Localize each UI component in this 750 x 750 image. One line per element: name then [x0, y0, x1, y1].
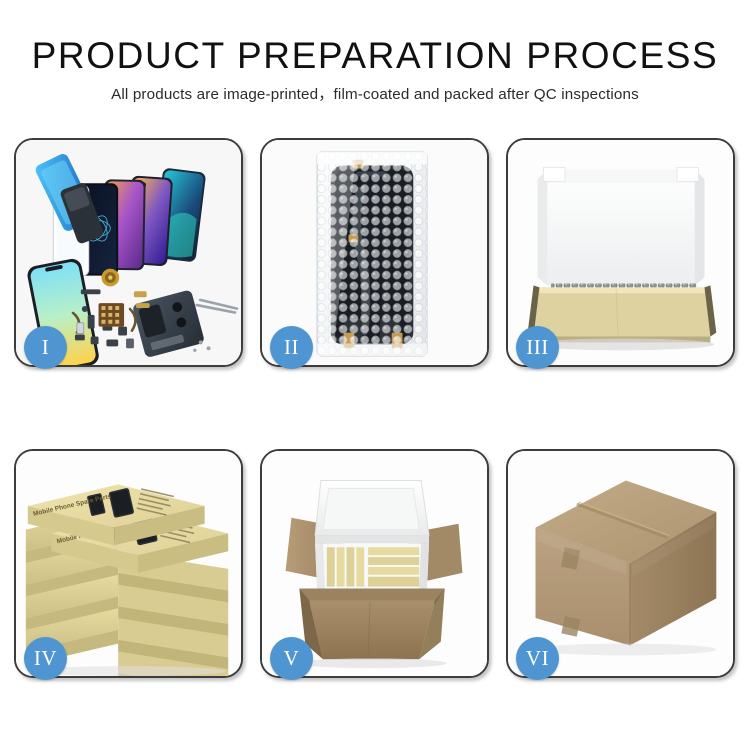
process-step-3: III	[506, 138, 735, 367]
step-badge-2: II	[270, 326, 313, 369]
step-badge-1: I	[24, 326, 67, 369]
page-title: PRODUCT PREPARATION PROCESS	[0, 34, 750, 78]
process-step-2: II	[260, 138, 489, 367]
process-step-6: VI	[506, 449, 735, 678]
step-badge-4: IV	[24, 637, 67, 680]
process-step-5: V	[260, 449, 489, 678]
step-badge-3: III	[516, 326, 559, 369]
process-steps-grid: I	[14, 138, 736, 678]
process-step-4: Mobile Phone Spare Parts	[14, 449, 243, 678]
page-subtitle: All products are image-printed，film-coat…	[0, 85, 750, 105]
header: PRODUCT PREPARATION PROCESS All products…	[0, 34, 750, 105]
step-badge-6: VI	[516, 637, 559, 680]
step-badge-5: V	[270, 637, 313, 680]
process-step-1: I	[14, 138, 243, 367]
product-preparation-infographic: PRODUCT PREPARATION PROCESS All products…	[0, 0, 750, 750]
